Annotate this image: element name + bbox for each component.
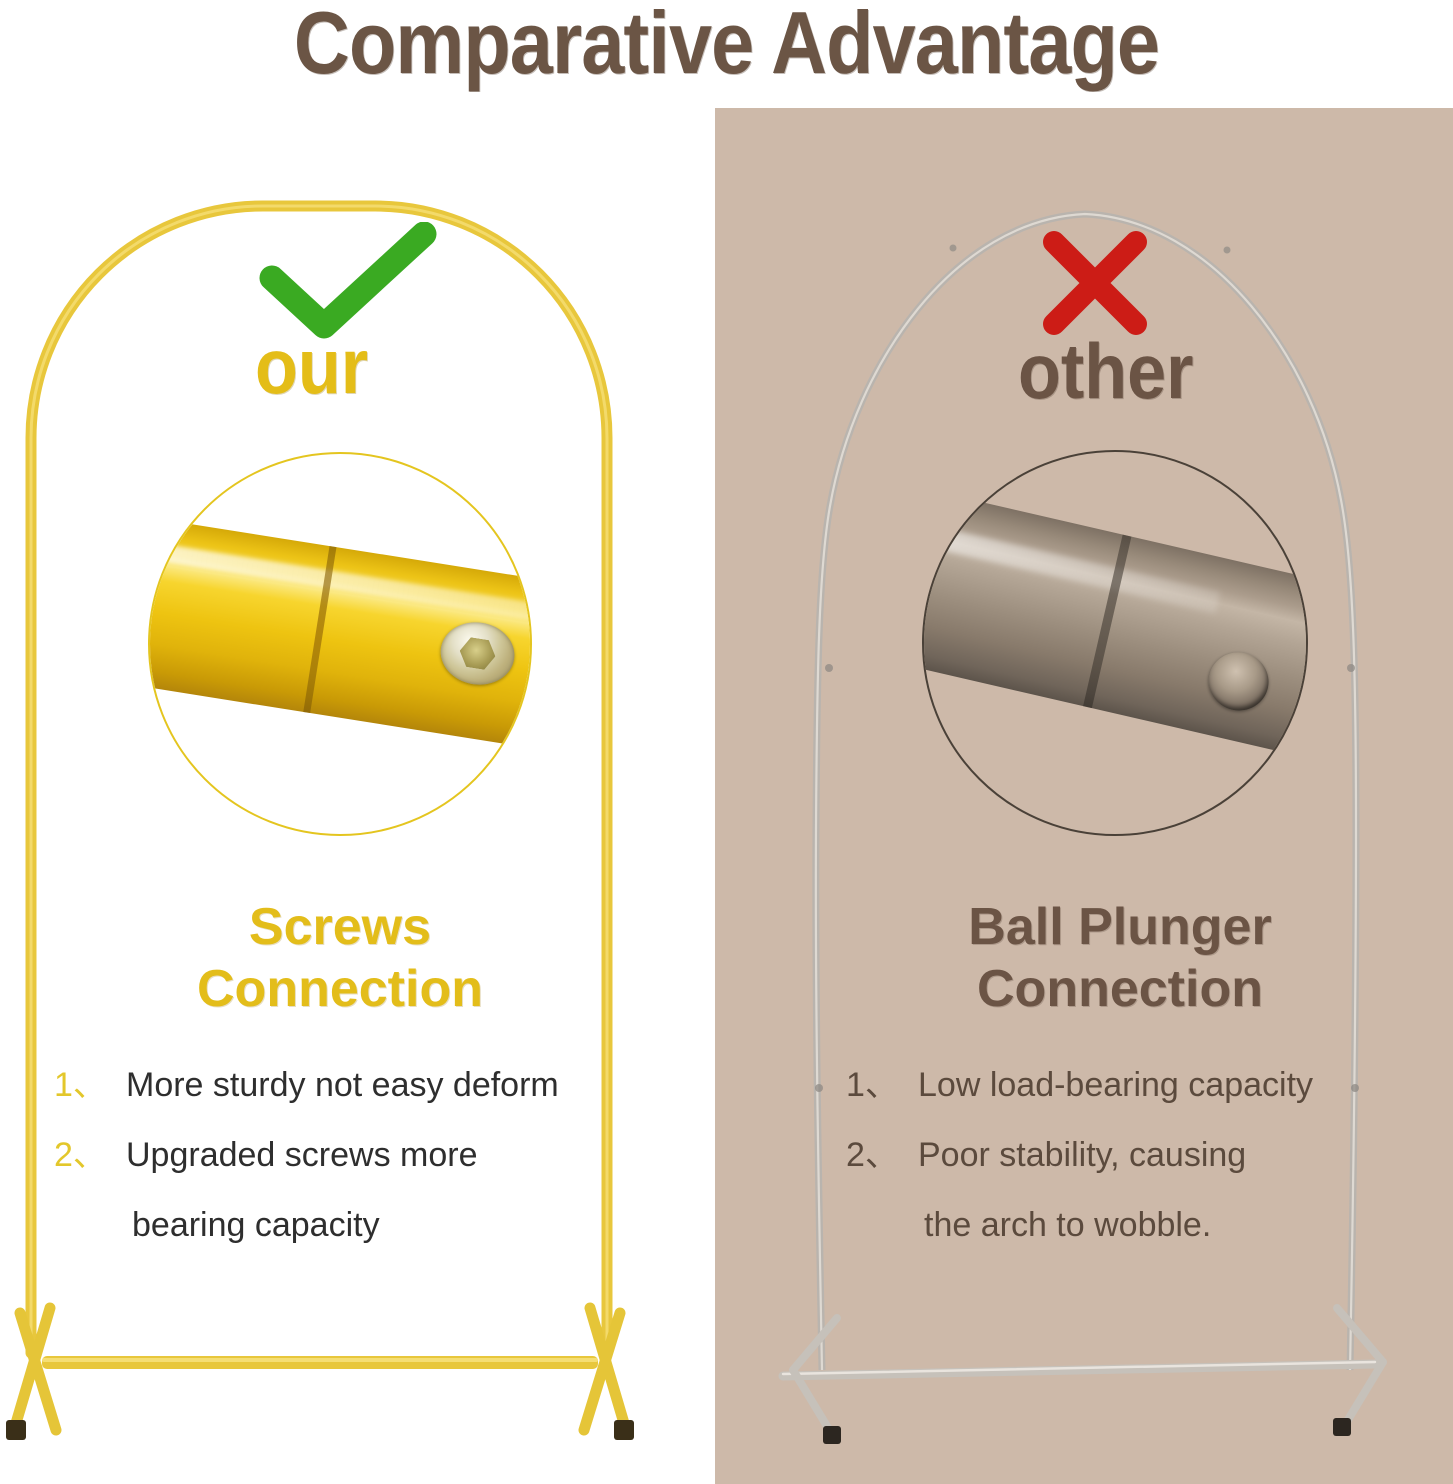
tube-highlight	[922, 519, 1220, 613]
hex-socket-icon	[457, 636, 497, 671]
comparison-infographic: Comparative Advantage	[0, 0, 1453, 1484]
list-item-number: 1、	[846, 1062, 918, 1108]
list-item-number: 2、	[846, 1132, 918, 1178]
gray-tube	[922, 482, 1308, 775]
list-item-number: 1、	[54, 1062, 126, 1108]
tube-highlight	[148, 534, 532, 633]
ball-plunger-icon	[1203, 646, 1275, 716]
our-label: our	[255, 325, 368, 407]
yellow-tube	[148, 510, 532, 757]
left-heading: Screws Connection	[60, 896, 620, 1020]
our-product-benefit-list: 1、 More sturdy not easy deform 2、 Upgrad…	[54, 1062, 674, 1264]
yellow-tube-photo-content	[150, 454, 530, 834]
right-heading: Ball Plunger Connection	[840, 896, 1400, 1020]
list-item-number: 2、	[54, 1132, 126, 1178]
list-item-label: Poor stability, causing	[918, 1132, 1453, 1178]
ball-plunger-connection-photo	[922, 450, 1308, 836]
list-item: 1、 Low load-bearing capacity	[846, 1062, 1453, 1108]
cross-icon	[1040, 228, 1150, 338]
other-label: other	[1018, 330, 1194, 412]
other-product-drawback-list: 1、 Low load-bearing capacity 2、 Poor sta…	[846, 1062, 1453, 1264]
list-item-continuation: bearing capacity	[132, 1202, 674, 1248]
list-item: 2、 Upgraded screws more	[54, 1132, 674, 1178]
list-item: 1、 More sturdy not easy deform	[54, 1062, 674, 1108]
list-item: 2、 Poor stability, causing	[846, 1132, 1453, 1178]
list-item-label: Upgraded screws more	[126, 1132, 674, 1178]
screws-connection-photo	[148, 452, 532, 836]
tube-joint-seam	[1083, 535, 1131, 709]
page-title: Comparative Advantage	[87, 0, 1366, 90]
list-item-label: Low load-bearing capacity	[918, 1062, 1453, 1108]
gray-tube-photo-content	[924, 452, 1306, 834]
list-item-continuation: the arch to wobble.	[924, 1202, 1453, 1248]
hex-screw-icon	[436, 617, 519, 690]
list-item-label: More sturdy not easy deform	[126, 1062, 674, 1108]
